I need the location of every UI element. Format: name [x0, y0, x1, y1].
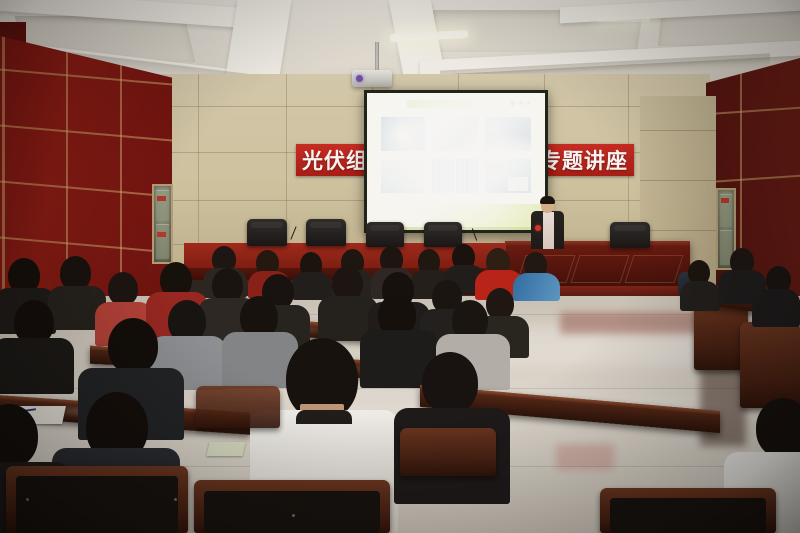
slide-dot-icon — [519, 101, 523, 105]
person-body — [292, 272, 332, 300]
person-head — [108, 318, 158, 374]
banner-text-right: 专题讲座 — [540, 145, 628, 175]
slide-dot-icon — [527, 101, 531, 105]
cabinet-glass — [156, 224, 169, 259]
cabinet-label — [157, 232, 166, 237]
podium-panel — [624, 255, 683, 283]
seat-pad — [16, 476, 178, 533]
person-head — [108, 272, 138, 306]
left-red-wall — [0, 36, 172, 296]
presenter-shirt — [543, 212, 554, 249]
factory-building-icon — [508, 177, 528, 191]
wall-seam — [640, 180, 716, 181]
floor-reflection-banner — [556, 444, 614, 470]
wall-grout — [0, 180, 172, 197]
person-head — [422, 352, 478, 414]
person-body — [680, 281, 720, 311]
projector-mount — [375, 42, 379, 72]
slide-image-panel-a — [432, 159, 454, 193]
jacket-collar — [296, 410, 352, 424]
podium-panel — [570, 255, 629, 283]
wall-seam — [640, 130, 716, 131]
slide-surface — [367, 93, 545, 230]
person-body — [513, 273, 560, 301]
wall-grout — [0, 124, 172, 141]
seat-back[interactable] — [400, 428, 496, 476]
presenter-hair — [540, 196, 555, 204]
slide-image-solar-farm — [381, 159, 425, 193]
presenter-badge — [535, 225, 541, 231]
slide-image-panel-b — [456, 159, 478, 193]
seat-rivet — [292, 514, 295, 517]
slide-dot-icon — [510, 101, 515, 106]
slide-image-wafer — [381, 117, 425, 151]
person-head — [756, 398, 800, 458]
ceiling-light — [598, 18, 650, 22]
wall-grout — [2, 36, 5, 296]
cabinet-glass — [156, 190, 169, 221]
slide-image-map — [432, 117, 478, 151]
stage-chair — [306, 219, 346, 246]
slide-accent-bar — [407, 100, 465, 108]
wall-grout — [120, 36, 122, 296]
wall-cabinet[interactable] — [152, 184, 173, 264]
lecture-hall-photo: 光伏组件 专题讲座 — [0, 0, 800, 533]
seat-rivet — [26, 498, 29, 501]
notebook — [207, 442, 246, 456]
person-body — [752, 289, 800, 327]
seat-pad — [204, 491, 380, 533]
wall-grout — [706, 107, 800, 116]
wall-grout — [706, 175, 800, 184]
seat-rivet — [174, 498, 177, 501]
seat-back[interactable] — [6, 466, 188, 533]
cabinet-label — [157, 196, 166, 201]
seat-pad — [610, 498, 766, 533]
projection-screen — [364, 90, 548, 233]
stage-chair — [424, 222, 462, 247]
stage-chair — [247, 219, 287, 246]
stage-chair — [610, 222, 650, 248]
stage-chair — [366, 222, 404, 247]
seat-back[interactable] — [600, 488, 776, 533]
projector-lens-icon — [356, 75, 363, 82]
slide-image-factory — [485, 159, 531, 193]
wall-grout — [0, 236, 172, 253]
person-body — [0, 338, 74, 394]
seat-back[interactable] — [196, 386, 280, 428]
wall-seam — [198, 74, 199, 264]
cabinet-label — [721, 198, 729, 203]
seat-back[interactable] — [194, 480, 390, 533]
seat-back[interactable] — [740, 322, 800, 408]
solar-farm-rows-icon — [384, 166, 420, 192]
wall-seam — [640, 230, 716, 231]
slide-image-stack — [485, 117, 531, 151]
